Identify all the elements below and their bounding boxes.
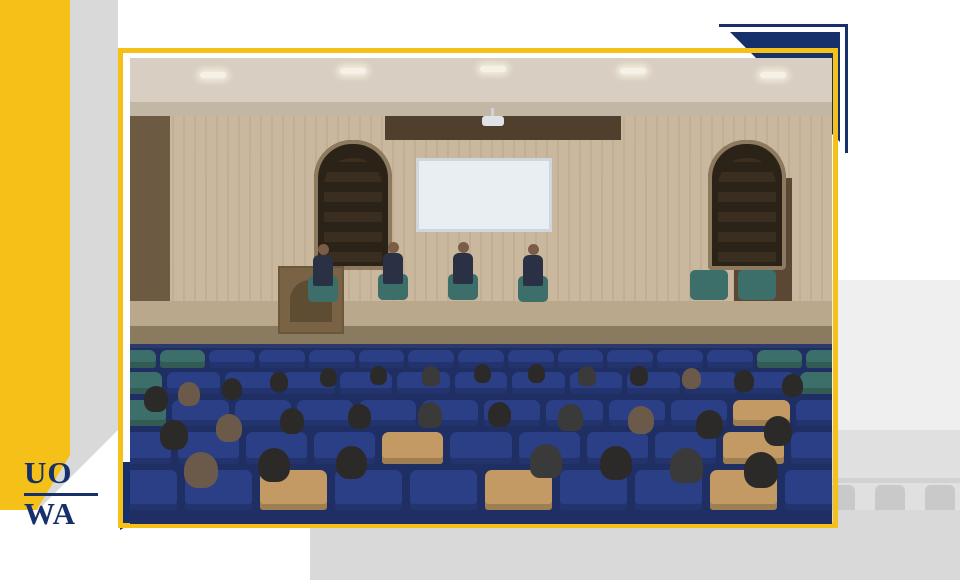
ceiling-light xyxy=(340,68,366,74)
audience-member xyxy=(348,404,371,429)
ceiling-light xyxy=(200,72,226,78)
ceiling-light xyxy=(620,68,646,74)
audience-member xyxy=(418,402,442,428)
audience-member xyxy=(258,448,290,482)
seat xyxy=(757,350,803,368)
side-chair xyxy=(738,270,776,300)
banner-canvas: UO WA xyxy=(0,0,960,580)
seat xyxy=(160,350,206,368)
audience-member xyxy=(270,372,288,392)
audience-seating xyxy=(130,348,832,524)
seat xyxy=(410,470,477,510)
audience-member xyxy=(184,452,218,488)
seat xyxy=(657,350,703,368)
audience-member xyxy=(160,420,188,450)
seat xyxy=(359,350,405,368)
seat xyxy=(796,400,832,426)
logo-line-2: WA xyxy=(24,496,110,532)
wall-dark-left xyxy=(130,116,170,301)
audience-member xyxy=(528,364,545,383)
audience-member xyxy=(782,374,803,397)
audience-member xyxy=(734,370,754,392)
seat xyxy=(259,350,305,368)
seat xyxy=(607,350,653,368)
seat xyxy=(806,350,832,368)
seat xyxy=(800,372,832,394)
audience-member xyxy=(600,446,632,480)
audience-member xyxy=(178,382,200,406)
ornamental-panel-right xyxy=(708,140,786,270)
audience-member xyxy=(682,368,701,389)
uowa-logo: UO WA xyxy=(24,455,110,531)
seat xyxy=(297,400,353,426)
seat xyxy=(309,350,355,368)
projector xyxy=(482,116,504,126)
audience-member xyxy=(370,366,387,385)
projection-screen xyxy=(416,158,552,232)
ceiling-light xyxy=(760,72,786,78)
audience-member xyxy=(422,366,440,386)
audience-member xyxy=(320,368,337,387)
audience-member xyxy=(474,364,491,383)
audience-member xyxy=(558,404,583,431)
audience-member xyxy=(578,366,596,386)
panelist xyxy=(311,244,335,286)
ceiling-light xyxy=(480,66,506,72)
seat xyxy=(382,432,443,464)
audience-member xyxy=(336,446,367,479)
event-photo xyxy=(130,58,832,524)
audience-member xyxy=(530,444,562,478)
seat xyxy=(558,350,604,368)
audience-member xyxy=(744,452,778,488)
seat xyxy=(785,470,832,510)
panelist xyxy=(451,242,475,284)
audience-member xyxy=(144,386,168,412)
panelist xyxy=(521,244,545,286)
seat xyxy=(450,432,511,464)
seat xyxy=(209,350,255,368)
audience-member xyxy=(222,378,242,400)
seat xyxy=(707,350,753,368)
logo-line-1: UO xyxy=(24,455,110,491)
audience-member xyxy=(628,406,654,434)
seat xyxy=(130,470,177,510)
panelist xyxy=(381,242,405,284)
audience-member xyxy=(630,366,648,386)
audience-member xyxy=(488,402,511,427)
side-chair xyxy=(690,270,728,300)
audience-member xyxy=(764,416,792,446)
audience-member xyxy=(696,410,723,439)
seat xyxy=(791,432,832,464)
audience-member xyxy=(670,448,703,483)
seat xyxy=(130,350,156,368)
audience-member xyxy=(280,408,304,434)
seat-row xyxy=(130,470,832,510)
audience-member xyxy=(216,414,242,442)
